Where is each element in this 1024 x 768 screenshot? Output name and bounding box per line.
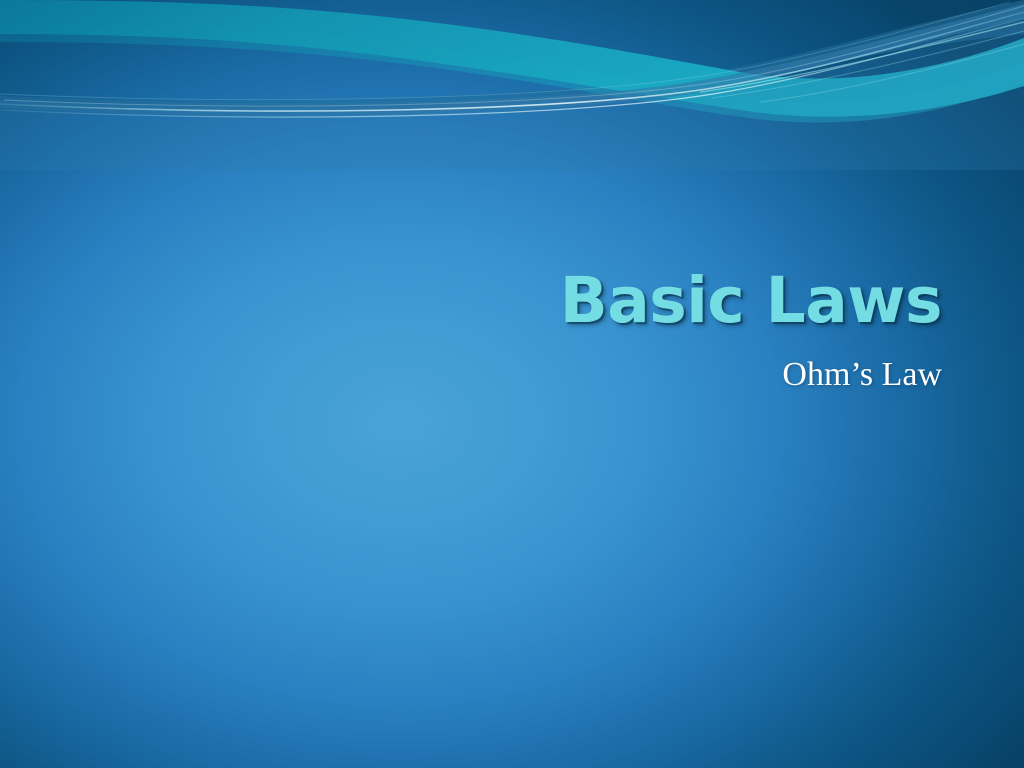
page-title: Basic Laws xyxy=(430,268,942,334)
page-subtitle: Ohm’s Law xyxy=(430,356,942,393)
title-text-block: Basic Laws Ohm’s Law xyxy=(430,268,942,393)
presentation-slide: Basic Laws Ohm’s Law xyxy=(0,0,1024,768)
wave-ribbon-decoration xyxy=(0,0,1024,170)
